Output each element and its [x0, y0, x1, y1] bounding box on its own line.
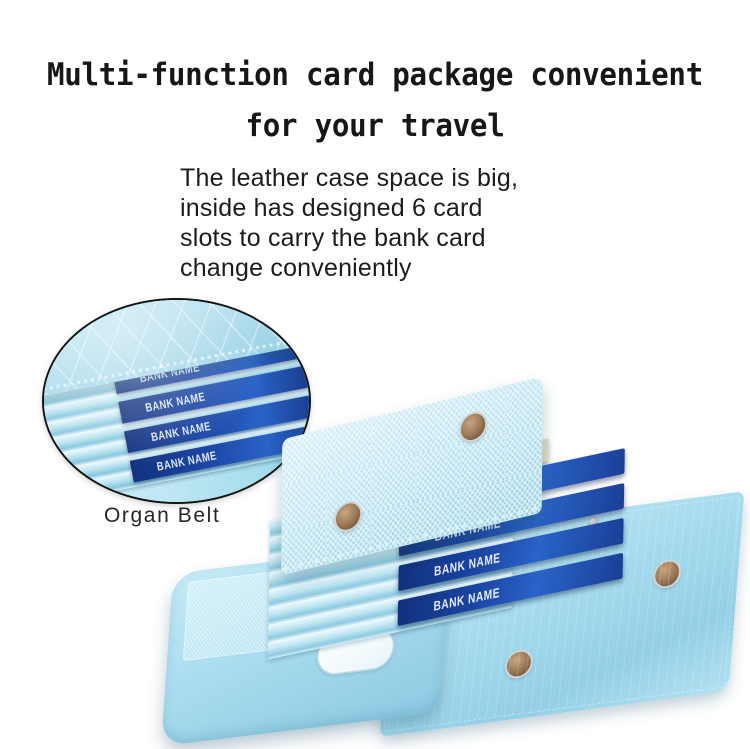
product-photo: BANK NAME BANK NAME BANK NAME BANK NAME [160, 408, 750, 749]
bank-card-label: BANK NAME [434, 549, 501, 579]
feature-description: The leather case space is big, inside ha… [180, 163, 600, 283]
page-headline: Multi-function card package convenient f… [23, 50, 728, 152]
flap-snap-button [336, 501, 361, 533]
lining-snap-button [506, 650, 532, 678]
bank-card-label: BANK NAME [433, 584, 500, 614]
product-marketing-banner: Multi-function card package convenient f… [0, 0, 750, 749]
lining-snap-button [654, 560, 680, 588]
flap-snap-button [461, 411, 486, 443]
